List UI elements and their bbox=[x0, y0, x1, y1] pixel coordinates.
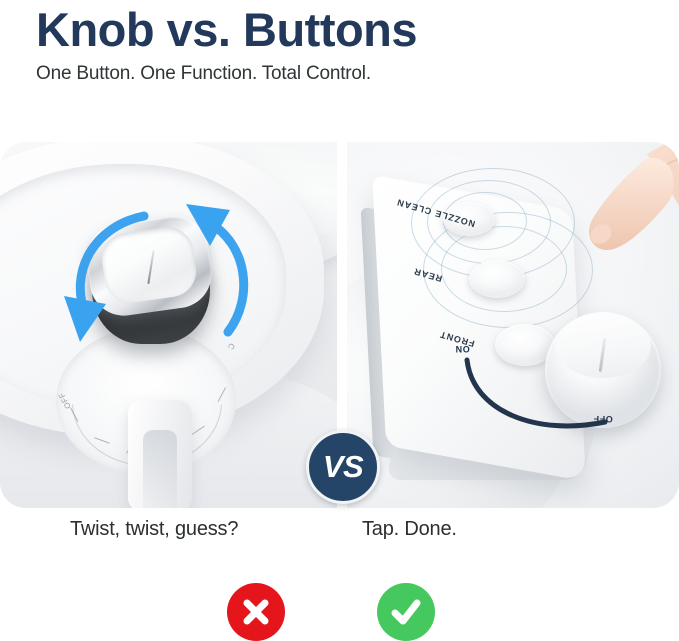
check-icon bbox=[388, 594, 424, 630]
captions-row: Twist, twist, guess? Tap. Done. bbox=[0, 518, 679, 556]
hand-tapping-illustration bbox=[497, 142, 679, 374]
verdict-badge-positive bbox=[377, 583, 435, 641]
power-dial-label-on: ON bbox=[455, 344, 470, 354]
header: Knob vs. Buttons One Button. One Functio… bbox=[0, 0, 679, 85]
comparison-section: OFF LOW C NOZZLE CLEAN bbox=[0, 142, 679, 508]
cross-icon bbox=[239, 595, 273, 629]
twist-arrows-icon bbox=[58, 200, 268, 380]
comparison-panel-buttons: NOZZLE CLEAN REAR FRONT ON OFF bbox=[347, 142, 679, 508]
comparison-panel-knob: OFF LOW C bbox=[0, 142, 337, 508]
page-subtitle: One Button. One Function. Total Control. bbox=[36, 63, 679, 85]
power-dial-label-off: OFF bbox=[593, 414, 613, 424]
page-title: Knob vs. Buttons bbox=[36, 4, 679, 57]
knob-stem-shadow bbox=[143, 430, 177, 508]
caption-knob: Twist, twist, guess? bbox=[70, 518, 238, 541]
vs-badge: VS bbox=[306, 430, 380, 504]
verdict-badge-negative bbox=[227, 583, 285, 641]
caption-buttons: Tap. Done. bbox=[362, 518, 457, 541]
